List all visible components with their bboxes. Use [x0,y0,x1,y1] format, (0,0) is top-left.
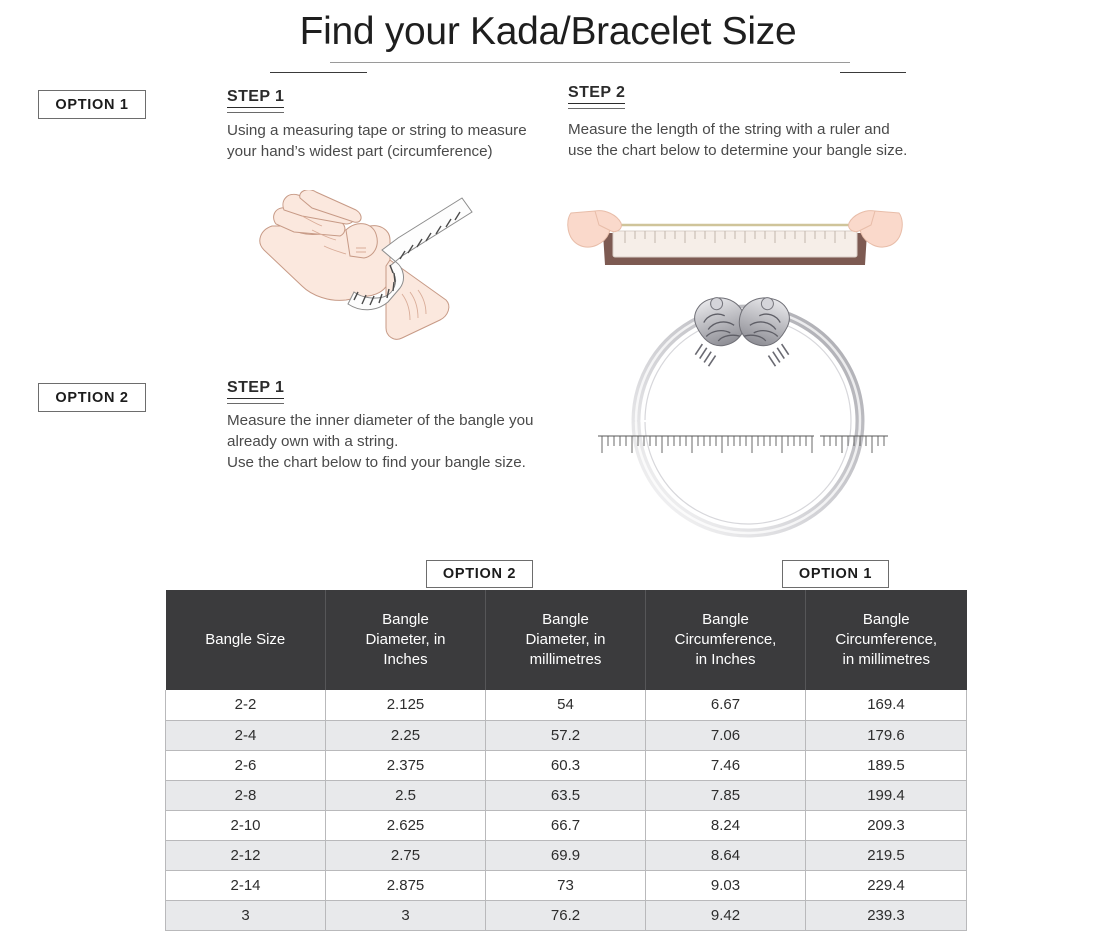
cell-value: 2.875 [326,870,486,900]
cell-bangle-size: 2-8 [166,780,326,810]
size-guide-page: Find your Kada/Bracelet Size OPTION 1 ST… [0,0,1096,940]
table-row: 2-22.125546.67169.4 [166,690,967,720]
table-row: 2-82.563.57.85199.4 [166,780,967,810]
cell-value: 199.4 [806,780,967,810]
table-row: 2-122.7569.98.64219.5 [166,840,967,870]
table-option-2-badge: OPTION 2 [426,560,533,588]
cell-value: 9.42 [646,900,806,930]
cell-bangle-size: 3 [166,900,326,930]
header-line: millimetres [530,651,602,668]
cell-value: 3 [326,900,486,930]
header-line: Circumference, [835,631,937,648]
column-header-diameter-mm: Bangle Diameter, in millimetres [486,590,646,690]
table-row: 3376.29.42239.3 [166,900,967,930]
cell-value: 66.7 [486,810,646,840]
option1-step1-label: STEP 1 [227,88,284,106]
cell-bangle-size: 2-6 [166,750,326,780]
cell-value: 2.25 [326,720,486,750]
cell-value: 219.5 [806,840,967,870]
column-header-diameter-inches: Bangle Diameter, in Inches [326,590,486,690]
option1-step1-body: Using a measuring tape or string to meas… [227,120,527,162]
option1-step2-body: Measure the length of the string with a … [568,119,918,161]
header-line: Bangle [863,611,910,628]
header-line: Bangle [382,611,429,628]
cell-value: 2.75 [326,840,486,870]
cell-value: 239.3 [806,900,967,930]
cell-value: 179.6 [806,720,967,750]
option-2-badge: OPTION 2 [38,383,146,412]
table-body: 2-22.125546.67169.42-42.2557.27.06179.62… [166,690,967,930]
cell-value: 2.625 [326,810,486,840]
cell-value: 60.3 [486,750,646,780]
cell-value: 189.5 [806,750,967,780]
option2-step1-line1: Measure the inner diameter of the bangle… [227,412,533,450]
header-line: Bangle Size [205,631,285,648]
column-header-bangle-size: Bangle Size [166,590,326,690]
option-1-badge: OPTION 1 [38,90,146,119]
column-header-circumference-mm: Bangle Circumference, in millimetres [806,590,967,690]
header-line: Bangle [542,611,589,628]
table-row: 2-62.37560.37.46189.5 [166,750,967,780]
cell-value: 7.06 [646,720,806,750]
page-title: Find your Kada/Bracelet Size [0,10,1096,54]
bangle-size-table: Bangle Size Bangle Diameter, in Inches B… [165,590,967,931]
cell-value: 63.5 [486,780,646,810]
header-line: in millimetres [842,651,930,668]
cell-bangle-size: 2-10 [166,810,326,840]
table-header: Bangle Size Bangle Diameter, in Inches B… [166,590,967,690]
cell-value: 54 [486,690,646,720]
table-row: 2-42.2557.27.06179.6 [166,720,967,750]
cell-value: 2.5 [326,780,486,810]
header-line: Bangle [702,611,749,628]
header-line: Diameter, in [365,631,445,648]
table-option-1-badge: OPTION 1 [782,560,889,588]
cell-value: 6.67 [646,690,806,720]
option2-step1-body: Measure the inner diameter of the bangle… [227,410,557,473]
cell-bangle-size: 2-14 [166,870,326,900]
cell-value: 2.375 [326,750,486,780]
cell-bangle-size: 2-4 [166,720,326,750]
cell-bangle-size: 2-12 [166,840,326,870]
decorative-rule-left [270,72,367,73]
hand-with-measuring-tape-illustration [250,190,485,365]
cell-value: 229.4 [806,870,967,900]
header-line: Inches [383,651,427,668]
cell-value: 169.4 [806,690,967,720]
cell-value: 7.85 [646,780,806,810]
column-header-circumference-inches: Bangle Circumference, in Inches [646,590,806,690]
cell-value: 76.2 [486,900,646,930]
cell-value: 57.2 [486,720,646,750]
table-header-row: Bangle Size Bangle Diameter, in Inches B… [166,590,967,690]
option2-step1-line2: Use the chart below to find your bangle … [227,454,526,471]
cell-value: 69.9 [486,840,646,870]
hands-holding-string-over-ruler-photo [565,195,905,285]
cell-value: 7.46 [646,750,806,780]
table-row: 2-102.62566.78.24209.3 [166,810,967,840]
option1-step2-label: STEP 2 [568,84,625,102]
cell-bangle-size: 2-2 [166,690,326,720]
option2-step1-label: STEP 1 [227,379,284,397]
cell-value: 2.125 [326,690,486,720]
table-row: 2-142.875739.03229.4 [166,870,967,900]
cell-value: 8.24 [646,810,806,840]
decorative-rule-right [840,72,906,73]
cell-value: 73 [486,870,646,900]
header-line: Circumference, [675,631,777,648]
cell-value: 209.3 [806,810,967,840]
cell-value: 9.03 [646,870,806,900]
silver-kada-bangle-with-ruler-scale-photo [592,288,892,550]
header-line: Diameter, in [525,631,605,648]
cell-value: 8.64 [646,840,806,870]
header-line: in Inches [695,651,755,668]
title-underline [330,62,850,63]
